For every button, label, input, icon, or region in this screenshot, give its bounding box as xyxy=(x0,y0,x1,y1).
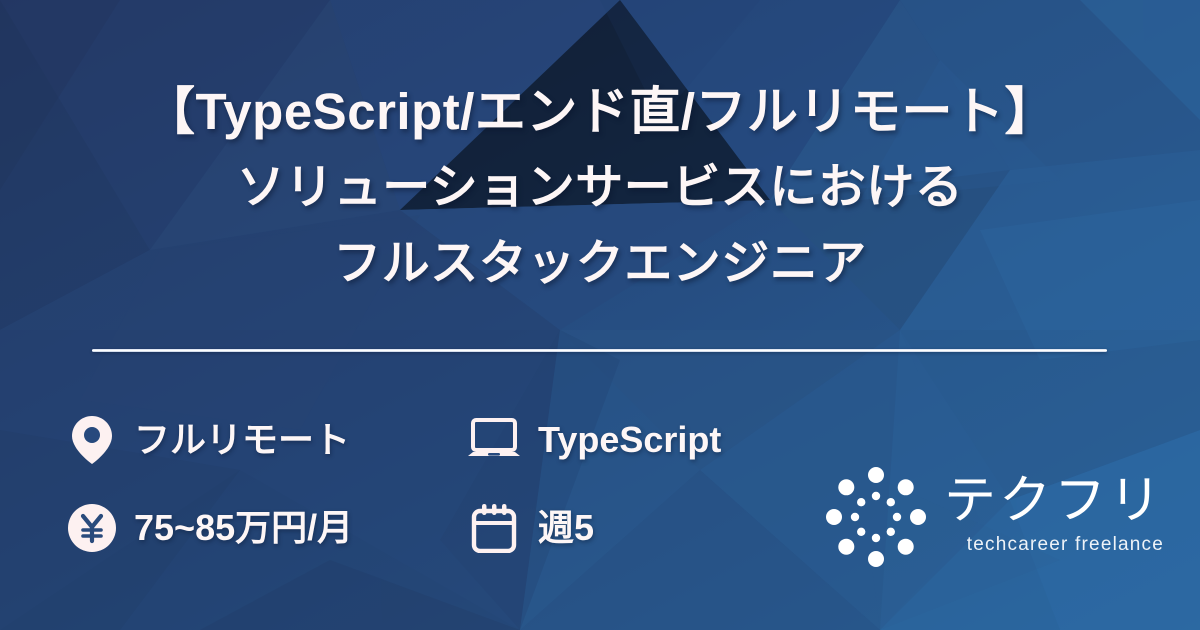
brand-name-jp: テクフリ xyxy=(944,475,1164,528)
info-label-pay: 75~85万円/月 xyxy=(134,510,353,546)
info-item-skill: TypeScript xyxy=(468,416,721,464)
info-label-skill: TypeScript xyxy=(538,422,721,458)
title-line-3: フルスタックエンジニア xyxy=(60,226,1140,302)
yen-circle-icon xyxy=(68,504,116,552)
page-title: 【TypeScript/エンド直/フルリモート】 ソリューションサービスにおける… xyxy=(0,74,1200,302)
laptop-icon xyxy=(468,416,520,464)
brand-wordmark: テクフリ techcareer freelance xyxy=(944,475,1164,559)
location-pin-icon xyxy=(68,416,116,464)
info-item-location: フルリモート xyxy=(68,416,468,464)
brand-logo: テクフリ techcareer freelance xyxy=(822,463,1164,571)
calendar-icon xyxy=(468,504,520,552)
dot-cluster-icon xyxy=(822,463,930,571)
job-posting-card: 【TypeScript/エンド直/フルリモート】 ソリューションサービスにおける… xyxy=(0,0,1200,630)
brand-name-en: techcareer freelance xyxy=(967,532,1164,559)
info-grid: フルリモート TypeScript xyxy=(68,396,721,572)
title-line-1: 【TypeScript/エンド直/フルリモート】 xyxy=(60,74,1140,150)
divider xyxy=(92,349,1107,352)
info-item-pay: 75~85万円/月 xyxy=(68,504,468,552)
info-item-days: 週5 xyxy=(468,504,721,552)
info-label-location: フルリモート xyxy=(134,422,350,458)
title-line-2: ソリューションサービスにおける xyxy=(60,150,1140,226)
info-label-days: 週5 xyxy=(538,510,594,546)
